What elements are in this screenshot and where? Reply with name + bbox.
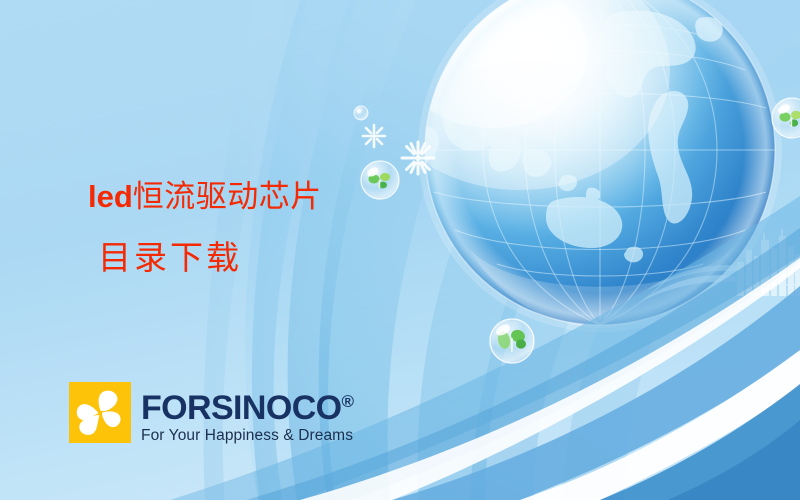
landmasses	[411, 10, 723, 262]
promotional-banner: led恒流驱动芯片 目录下载 FORSINOCO® For Your Happi…	[0, 0, 800, 500]
logo-mark	[69, 382, 131, 443]
headline-line-2: 目录下载	[88, 228, 418, 290]
longitude-lines	[483, 0, 717, 325]
company-logo[interactable]: FORSINOCO® For Your Happiness & Dreams	[69, 382, 354, 446]
registered-trademark-icon: ®	[342, 392, 355, 411]
globe	[370, 0, 782, 332]
latitude-lines	[425, 24, 775, 276]
city-skyline-silhouette	[640, 229, 800, 302]
headline-latin-text: led	[88, 179, 133, 214]
headline-cjk-text: 恒流驱动芯片	[133, 179, 322, 214]
logo-wordmark: FORSINOCO® For Your Happiness & Dreams	[141, 382, 354, 446]
white-starburst-small	[363, 125, 385, 147]
logo-company-name: FORSINOCO®	[141, 385, 354, 425]
bubble-small-top	[354, 106, 368, 120]
bubble-right-edge	[772, 98, 800, 138]
four-petal-pinwheel-icon	[69, 382, 131, 443]
headline-line-1: led恒流驱动芯片	[88, 166, 418, 228]
headline-block: led恒流驱动芯片 目录下载	[88, 166, 418, 290]
bubble-with-green-sprout	[490, 319, 534, 363]
logo-tagline: For Your Happiness & Dreams	[141, 426, 354, 446]
bubble-group	[354, 98, 800, 363]
logo-name-text: FORSINOCO	[141, 389, 342, 427]
